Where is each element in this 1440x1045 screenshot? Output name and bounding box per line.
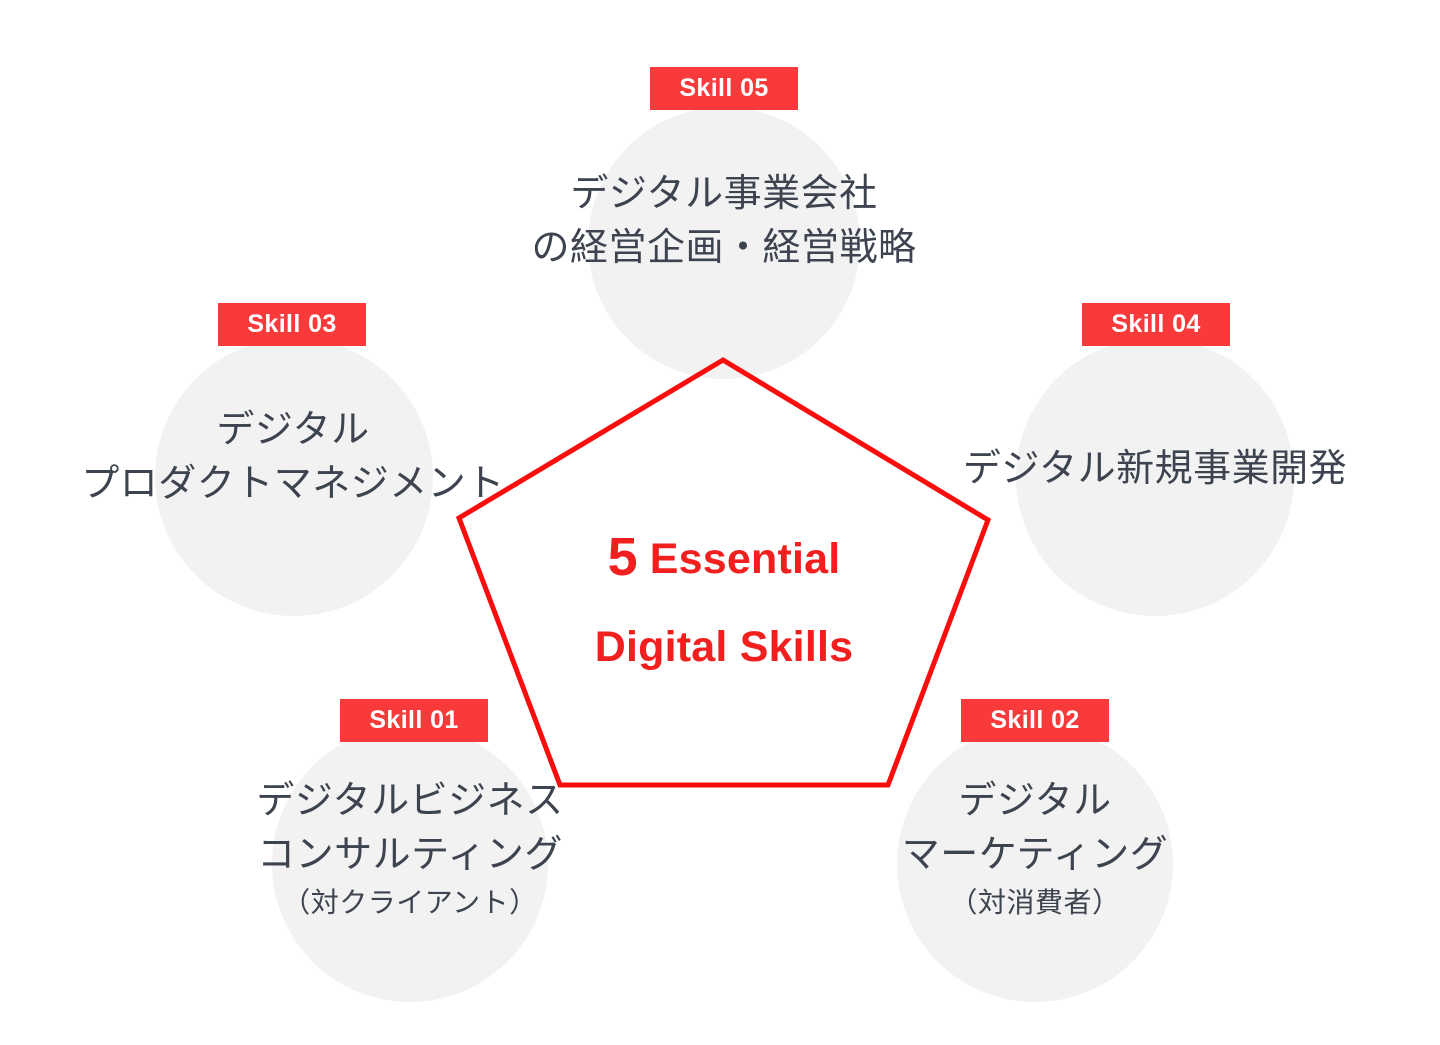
label-skill-05-line1: デジタル事業会社 <box>424 168 1024 222</box>
center-number: 5 <box>608 527 638 587</box>
label-skill-04: デジタル新規事業開発 <box>855 443 1440 497</box>
label-skill-02-sub: （対消費者） <box>735 883 1335 924</box>
badge-skill-02-label: Skill 02 <box>990 706 1079 735</box>
diagram-canvas: 5 Essential Digital Skills Skill 05 デジタル… <box>0 0 1440 1045</box>
badge-skill-05-label: Skill 05 <box>679 74 768 103</box>
label-skill-01-line1: デジタルビジネス <box>110 775 710 829</box>
center-essential-label: Essential <box>638 535 841 583</box>
badge-skill-03[interactable]: Skill 03 <box>218 303 366 346</box>
label-skill-02: デジタル マーケティング （対消費者） <box>735 775 1335 924</box>
label-skill-01: デジタルビジネス コンサルティング （対クライアント） <box>110 775 710 924</box>
center-headline: 5 Essential Digital Skills <box>484 518 964 680</box>
label-skill-02-line2: マーケティング <box>735 829 1335 883</box>
label-skill-01-sub: （対クライアント） <box>110 883 710 924</box>
badge-skill-04-label: Skill 04 <box>1111 310 1200 339</box>
label-skill-02-line1: デジタル <box>735 775 1335 829</box>
label-skill-01-line2: コンサルティング <box>110 829 710 883</box>
badge-skill-05[interactable]: Skill 05 <box>650 67 798 110</box>
label-skill-03: デジタル プロダクトマネジメント <box>0 404 593 512</box>
badge-skill-04[interactable]: Skill 04 <box>1082 303 1230 346</box>
center-subline: Digital Skills <box>484 616 964 680</box>
label-skill-05-line2: の経営企画・経営戦略 <box>424 222 1024 276</box>
badge-skill-01-label: Skill 01 <box>369 706 458 735</box>
badge-skill-01[interactable]: Skill 01 <box>340 699 488 742</box>
badge-skill-03-label: Skill 03 <box>247 310 336 339</box>
label-skill-04-line1: デジタル新規事業開発 <box>855 443 1440 497</box>
label-skill-03-line1: デジタル <box>0 404 593 458</box>
label-skill-03-line2: プロダクトマネジメント <box>0 458 593 512</box>
label-skill-05: デジタル事業会社 の経営企画・経営戦略 <box>424 168 1024 276</box>
badge-skill-02[interactable]: Skill 02 <box>961 699 1109 742</box>
